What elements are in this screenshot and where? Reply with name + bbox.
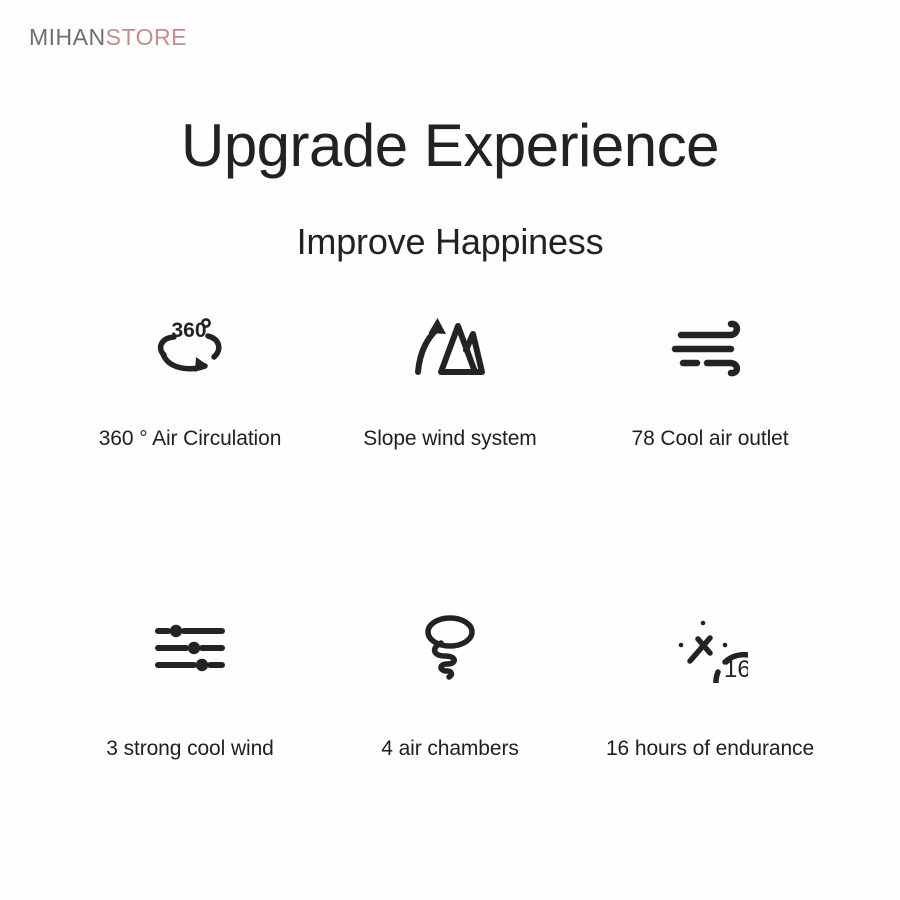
feature-item-cool-air-outlet: 78 Cool air outlet (580, 300, 840, 490)
brand-name-primary: MIHAN (29, 24, 106, 50)
feature-label: 360 ° Air Circulation (99, 427, 282, 451)
feature-item-hours-endurance: 16 16 hours of endurance (580, 600, 840, 790)
slope-wind-mountain-icon (410, 300, 490, 395)
clock-endurance-icon: 16 (672, 600, 748, 695)
brand-name-secondary: STORE (106, 24, 187, 50)
feature-item-air-chambers: 4 air chambers (320, 600, 580, 790)
wind-lines-icon (669, 300, 751, 395)
feature-label: 4 air chambers (381, 737, 519, 761)
feature-label: 16 hours of endurance (606, 737, 814, 761)
feature-item-slope-wind-system: Slope wind system (320, 300, 580, 490)
brand-logo: MIHANSTORE (29, 24, 187, 51)
sliders-icon (152, 600, 228, 695)
feature-label: 78 Cool air outlet (632, 427, 789, 451)
360-rotation-icon: 360 (144, 300, 236, 395)
feature-row: 360 360 ° Air Circulation Slope wind (60, 300, 840, 490)
feature-item-strong-cool-wind: 3 strong cool wind (60, 600, 320, 790)
page-title: Upgrade Experience (0, 113, 900, 179)
feature-grid: 360 360 ° Air Circulation Slope wind (60, 300, 840, 790)
tornado-spiral-icon (419, 600, 481, 695)
page-subtitle: Improve Happiness (0, 221, 900, 262)
svg-text:16: 16 (724, 656, 748, 683)
feature-row: 3 strong cool wind 4 air chambers (60, 600, 840, 790)
feature-item-360-air-circulation: 360 360 ° Air Circulation (60, 300, 320, 490)
feature-label: 3 strong cool wind (106, 737, 273, 761)
feature-label: Slope wind system (363, 427, 536, 451)
